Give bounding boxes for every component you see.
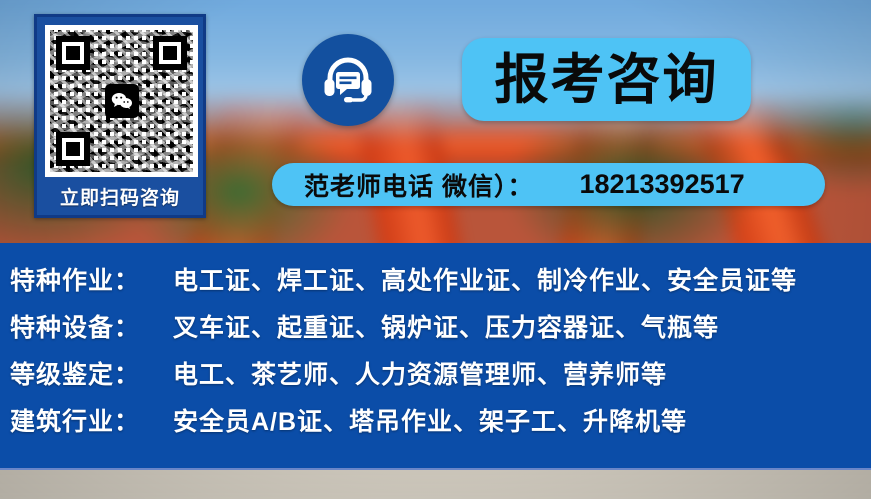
promo-poster: 立即扫码咨询 报考咨询 范老师电话 微信）： 18213392517 特种作业：… [0, 0, 871, 499]
contact-pill[interactable]: 范老师电话 微信）： 18213392517 [272, 163, 825, 206]
service-items: 电工、茶艺师、人力资源管理师、营养师等 [173, 355, 667, 391]
headset-support-icon [302, 34, 394, 126]
service-category: 建筑行业： [10, 402, 165, 438]
service-category: 特种设备： [10, 308, 165, 344]
wechat-icon [105, 84, 139, 118]
service-items: 叉车证、起重证、锅炉证、压力容器证、气瓶等 [173, 308, 719, 344]
title-pill: 报考咨询 [462, 38, 751, 121]
qr-card[interactable]: 立即扫码咨询 [34, 14, 206, 218]
service-category: 特种作业： [10, 261, 165, 297]
service-row: 特种设备： 叉车证、起重证、锅炉证、压力容器证、气瓶等 [10, 308, 871, 344]
qr-finder-top-left [56, 36, 90, 70]
service-row: 建筑行业： 安全员A/B证、塔吊作业、架子工、升降机等 [10, 402, 871, 438]
contact-label: 范老师电话 微信）： [304, 167, 533, 203]
qr-finder-top-right [153, 36, 187, 70]
page-title: 报考咨询 [495, 53, 719, 107]
qr-code-frame [45, 25, 198, 177]
service-category: 等级鉴定： [10, 355, 165, 391]
service-items: 电工证、焊工证、高处作业证、制冷作业、安全员证等 [173, 261, 797, 297]
qr-code-icon[interactable] [50, 30, 193, 172]
services-panel: 特种作业： 电工证、焊工证、高处作业证、制冷作业、安全员证等 特种设备： 叉车证… [0, 243, 871, 470]
qr-finder-bottom-left [56, 132, 90, 166]
service-items: 安全员A/B证、塔吊作业、架子工、升降机等 [173, 402, 687, 438]
service-row: 特种作业： 电工证、焊工证、高处作业证、制冷作业、安全员证等 [10, 261, 871, 297]
contact-number[interactable]: 18213392517 [579, 169, 744, 200]
qr-card-label: 立即扫码咨询 [37, 183, 203, 210]
service-row: 等级鉴定： 电工、茶艺师、人力资源管理师、营养师等 [10, 355, 871, 391]
